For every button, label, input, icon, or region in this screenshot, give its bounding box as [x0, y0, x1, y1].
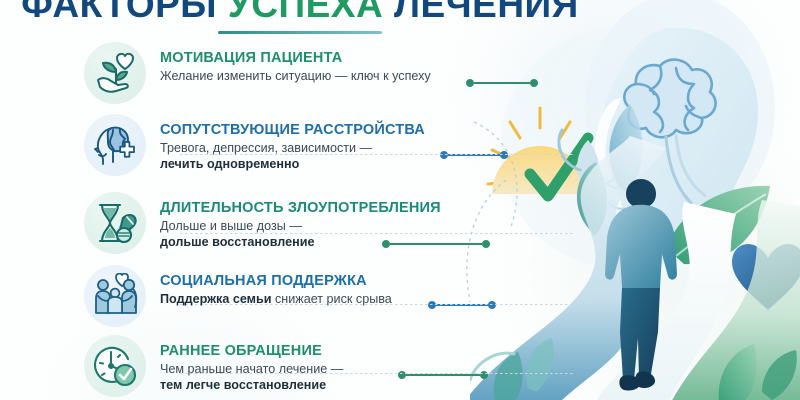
list-item[interactable]: МОТИВАЦИЯ ПАЦИЕНТА Желание изменить ситу…	[84, 42, 504, 114]
list-item-desc: Поддержка семьи снижает риск срыва	[160, 292, 392, 308]
title-divider	[218, 31, 382, 34]
list-item[interactable]: ДЛИТЕЛЬНОСТЬ ЗЛОУПОТРЕБЛЕНИЯ Дольше и вы…	[84, 192, 504, 265]
clock-check-icon	[84, 335, 146, 397]
list-item-text: ДЛИТЕЛЬНОСТЬ ЗЛОУПОТРЕБЛЕНИЯ Дольше и вы…	[160, 192, 441, 250]
list-item-desc: Желание изменить ситуацию — ключ к успех…	[160, 69, 431, 85]
head-brain-plus-icon	[84, 114, 146, 176]
list-item-desc-2: лечить одновременно	[160, 157, 425, 173]
title-part-success: УСПЕХА	[228, 0, 383, 25]
connector-dot	[530, 79, 538, 87]
list-item-title: СОПУТСТВУЮЩИЕ РАССТРОЙСТВА	[160, 122, 425, 139]
list-item-text: СОЦИАЛЬНАЯ ПОДДЕРЖКА Поддержка семьи сни…	[160, 265, 392, 308]
list-item-text: РАННЕЕ ОБРАЩЕНИЕ Чем раньше начато лечен…	[160, 335, 343, 393]
list-item-desc: Тревога, депрессия, зависимости —	[160, 141, 425, 157]
recovery-path-illustration	[470, 0, 800, 400]
family-heart-icon	[84, 265, 146, 327]
list-item-text: МОТИВАЦИЯ ПАЦИЕНТА Желание изменить ситу…	[160, 42, 431, 85]
list-item-desc-tail: снижает риск срыва	[271, 292, 391, 306]
list-item-desc-bold: тем легче восстановление	[160, 378, 326, 392]
hand-holding-plant-heart-icon	[84, 42, 146, 104]
list-item-desc: Чем раньше начато лечение —	[160, 362, 343, 378]
list-item[interactable]: СОЦИАЛЬНАЯ ПОДДЕРЖКА Поддержка семьи сни…	[84, 265, 504, 335]
list-item-title: МОТИВАЦИЯ ПАЦИЕНТА	[160, 50, 431, 67]
list-item-title: СОЦИАЛЬНАЯ ПОДДЕРЖКА	[160, 273, 392, 290]
factors-list: МОТИВАЦИЯ ПАЦИЕНТА Желание изменить ситу…	[84, 42, 504, 400]
list-item-desc-bold: лечить одновременно	[160, 157, 299, 171]
list-item-title: РАННЕЕ ОБРАЩЕНИЕ	[160, 343, 343, 360]
list-item-desc: Дольше и выше дозы —	[160, 219, 441, 235]
list-item-desc-2: тем легче восстановление	[160, 378, 343, 394]
list-item-desc-bold: дольше восстановление	[160, 235, 314, 249]
title-part-factors: ФАКТОРЫ	[21, 0, 217, 25]
list-item-text: СОПУТСТВУЮЩИЕ РАССТРОЙСТВА Тревога, депр…	[160, 114, 425, 172]
hourglass-pills-icon	[84, 192, 146, 254]
list-item[interactable]: СОПУТСТВУЮЩИЕ РАССТРОЙСТВА Тревога, депр…	[84, 114, 504, 192]
list-item-title: ДЛИТЕЛЬНОСТЬ ЗЛОУПОТРЕБЛЕНИЯ	[160, 200, 441, 217]
list-item[interactable]: РАННЕЕ ОБРАЩЕНИЕ Чем раньше начато лечен…	[84, 335, 504, 400]
list-item-desc-bold: Поддержка семьи	[160, 292, 271, 306]
infographic-canvas: ФАКТОРЫ УСПЕХА ЛЕЧЕНИЯ	[0, 0, 800, 400]
list-item-desc-2: дольше восстановление	[160, 235, 441, 251]
